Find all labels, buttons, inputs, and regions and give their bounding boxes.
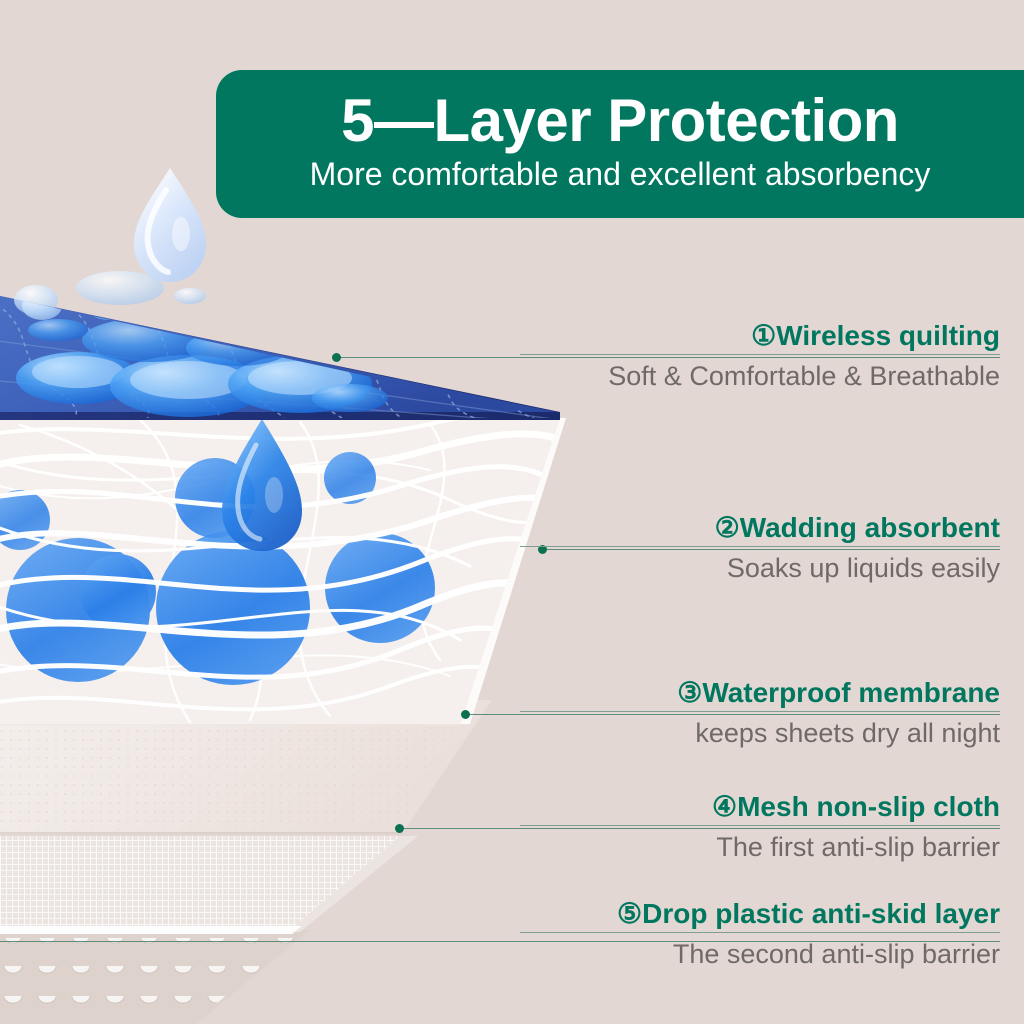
header-banner: 5—Layer Protection More comfortable and … xyxy=(216,70,1024,218)
callout-title-5: ⑤Drop plastic anti-skid layer xyxy=(520,898,1000,930)
infographic-canvas: 5—Layer Protection More comfortable and … xyxy=(0,0,1024,1024)
page-subtitle: More comfortable and excellent absorbenc… xyxy=(310,157,931,192)
callout-title-3: ③Waterproof membrane xyxy=(520,677,1000,709)
callout-subtitle-5: The second anti-slip barrier xyxy=(520,938,1000,970)
callout-label-2: Wadding absorbent xyxy=(740,512,1000,543)
callout-rule-3 xyxy=(520,711,1000,712)
callout-title-4: ④Mesh non-slip cloth xyxy=(520,791,1000,823)
callout-label-5: Drop plastic anti-skid layer xyxy=(642,898,1000,929)
callout-layer-2: ②Wadding absorbent Soaks up liquids easi… xyxy=(520,512,1000,585)
callout-rule-1 xyxy=(520,354,1000,355)
callout-label-3: Waterproof membrane xyxy=(702,677,1000,708)
callout-layer-3: ③Waterproof membrane keeps sheets dry al… xyxy=(520,677,1000,750)
callout-subtitle-4: The first anti-slip barrier xyxy=(520,831,1000,863)
callout-number-2: ② xyxy=(715,512,740,543)
callout-layer-4: ④Mesh non-slip cloth The first anti-slip… xyxy=(520,791,1000,864)
callout-number-5: ⑤ xyxy=(617,898,642,929)
callout-layer-1: ①Wireless quilting Soft & Comfortable & … xyxy=(520,320,1000,393)
callout-label-4: Mesh non-slip cloth xyxy=(737,791,1000,822)
callout-number-3: ③ xyxy=(677,677,702,708)
callout-layer-5: ⑤Drop plastic anti-skid layer The second… xyxy=(520,898,1000,971)
callout-title-2: ②Wadding absorbent xyxy=(520,512,1000,544)
falling-water-droplet xyxy=(134,168,206,282)
callout-rule-4 xyxy=(520,825,1000,826)
callout-rule-5 xyxy=(520,932,1000,933)
callout-number-1: ① xyxy=(751,320,776,351)
layer-5-anti-skid-shape xyxy=(0,930,330,1024)
callout-rule-2 xyxy=(520,546,1000,547)
callout-subtitle-1: Soft & Comfortable & Breathable xyxy=(520,360,1000,392)
callout-subtitle-3: keeps sheets dry all night xyxy=(520,717,1000,749)
layer-2-wadding-shape xyxy=(0,410,600,728)
callout-subtitle-2: Soaks up liquids easily xyxy=(520,552,1000,584)
callout-title-1: ①Wireless quilting xyxy=(520,320,1000,352)
page-title: 5—Layer Protection xyxy=(341,91,899,151)
layer-4-mesh-shape xyxy=(0,830,430,940)
callout-label-1: Wireless quilting xyxy=(776,320,1000,351)
callout-number-4: ④ xyxy=(712,791,737,822)
